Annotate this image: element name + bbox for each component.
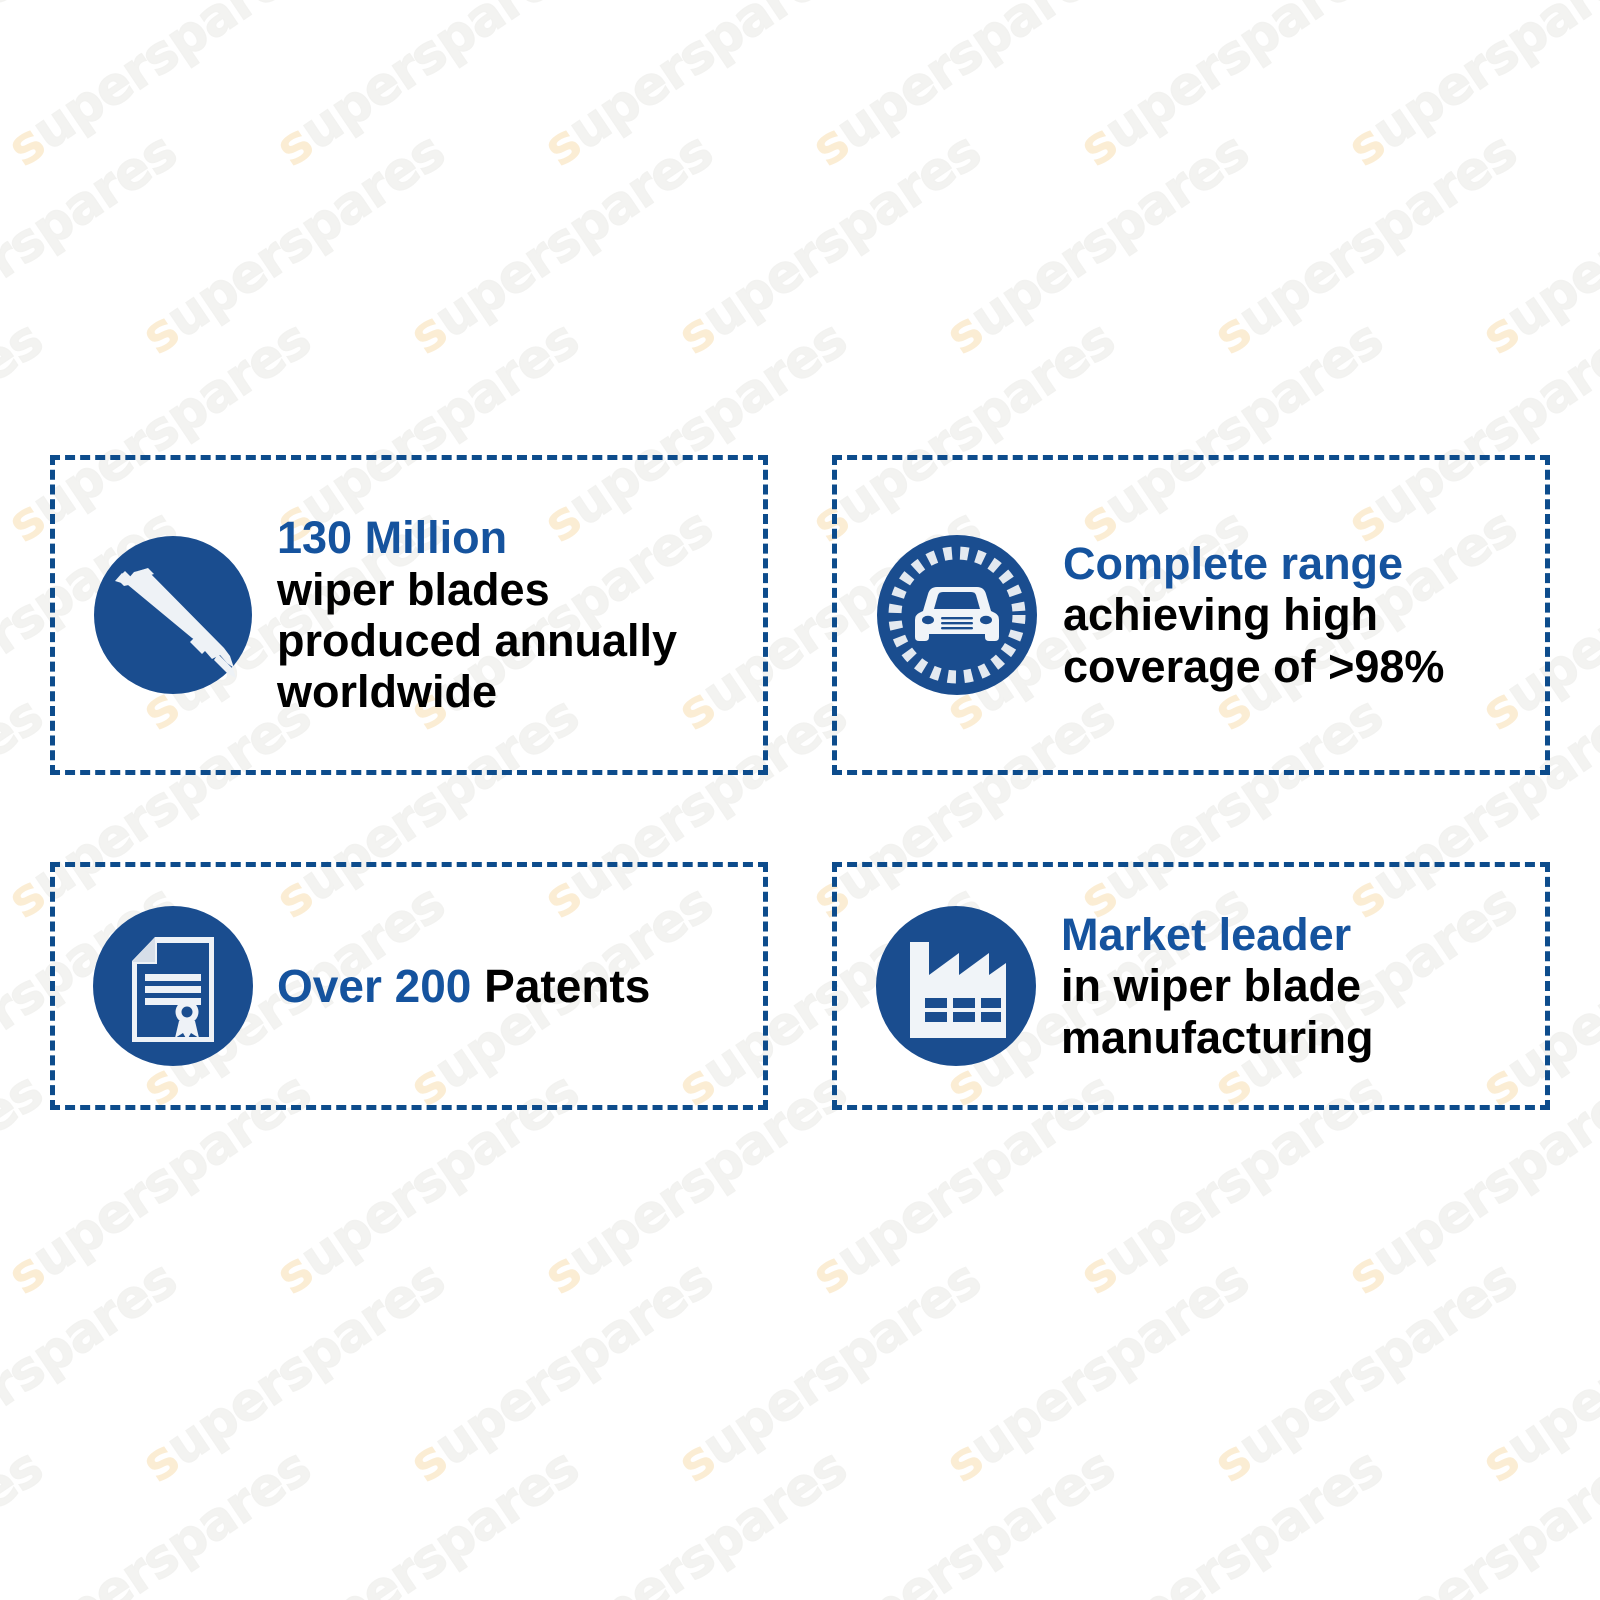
stat-line-1: Market leader [1061, 909, 1531, 960]
stats-card-grid: 130 Million wiper blades produced annual… [50, 455, 1550, 1110]
stat-line-2: Patents [484, 960, 650, 1012]
watermark-text: superspares [535, 0, 854, 176]
watermark-text: superspares [0, 313, 51, 552]
watermark-text: superspares [803, 0, 1122, 176]
watermark-text: superspares [1473, 125, 1600, 364]
watermark-text: superspares [0, 0, 319, 176]
stat-card-text: Over 200 Patents [277, 960, 749, 1012]
stat-line-3: manufacturing [1061, 1012, 1531, 1063]
stat-card-text: Market leader in wiper blade manufacturi… [1061, 909, 1531, 1063]
stat-card-patents: Over 200 Patents [50, 862, 768, 1110]
stat-card-coverage-range: Complete range achieving high coverage o… [832, 455, 1550, 775]
watermark-text: superspares [1071, 0, 1390, 176]
stat-card-market-leader: Market leader in wiper blade manufacturi… [832, 862, 1550, 1110]
wiper-blade-icon [69, 526, 277, 704]
watermark-text: superspares [401, 1253, 720, 1492]
watermark-text: superspares [535, 1441, 854, 1600]
infographic-canvas: supersparessupersparessupersparessupersp… [0, 0, 1600, 1600]
watermark-text: superspares [0, 1065, 51, 1304]
watermark-text: superspares [0, 1441, 51, 1600]
watermark-text: superspares [937, 125, 1256, 364]
stat-line-4: worldwide [277, 666, 749, 717]
watermark-text: superspares [937, 1253, 1256, 1492]
stat-line-1: Over 200 [277, 960, 484, 1012]
watermark-text: superspares [669, 125, 988, 364]
patent-certificate-icon [69, 896, 277, 1076]
stat-card-text: 130 Million wiper blades produced annual… [277, 512, 749, 717]
watermark-text: superspares [1473, 1253, 1600, 1492]
stat-line-3: coverage of >98% [1063, 641, 1531, 692]
watermark-text: superspares [0, 1253, 185, 1492]
watermark-text: superspares [1205, 125, 1524, 364]
watermark-text: superspares [803, 1441, 1122, 1600]
watermark-text: superspares [669, 1253, 988, 1492]
stat-line-1: 130 Million [277, 512, 749, 563]
stat-line-2: in wiper blade [1061, 960, 1531, 1011]
stat-card-text: Complete range achieving high coverage o… [1063, 538, 1531, 692]
watermark-text: superspares [1205, 1253, 1524, 1492]
stat-line-2: achieving high [1063, 589, 1531, 640]
watermark-text: superspares [267, 0, 586, 176]
watermark-text: superspares [133, 1253, 452, 1492]
stat-line-3: produced annually [277, 615, 749, 666]
watermark-text: superspares [133, 125, 452, 364]
watermark-text: superspares [1339, 0, 1600, 176]
stat-line-1: Complete range [1063, 538, 1531, 589]
watermark-text: superspares [267, 1441, 586, 1600]
watermark-text: superspares [0, 125, 185, 364]
watermark-text: superspares [1339, 1441, 1600, 1600]
factory-icon [851, 896, 1061, 1076]
car-coverage-icon [851, 525, 1063, 705]
stat-card-wiper-production: 130 Million wiper blades produced annual… [50, 455, 768, 775]
watermark-text: superspares [401, 125, 720, 364]
watermark-text: superspares [0, 689, 51, 928]
watermark-text: superspares [0, 1441, 319, 1600]
watermark-text: superspares [1071, 1441, 1390, 1600]
watermark-text: superspares [0, 0, 51, 176]
stat-line-2: wiper blades [277, 564, 749, 615]
